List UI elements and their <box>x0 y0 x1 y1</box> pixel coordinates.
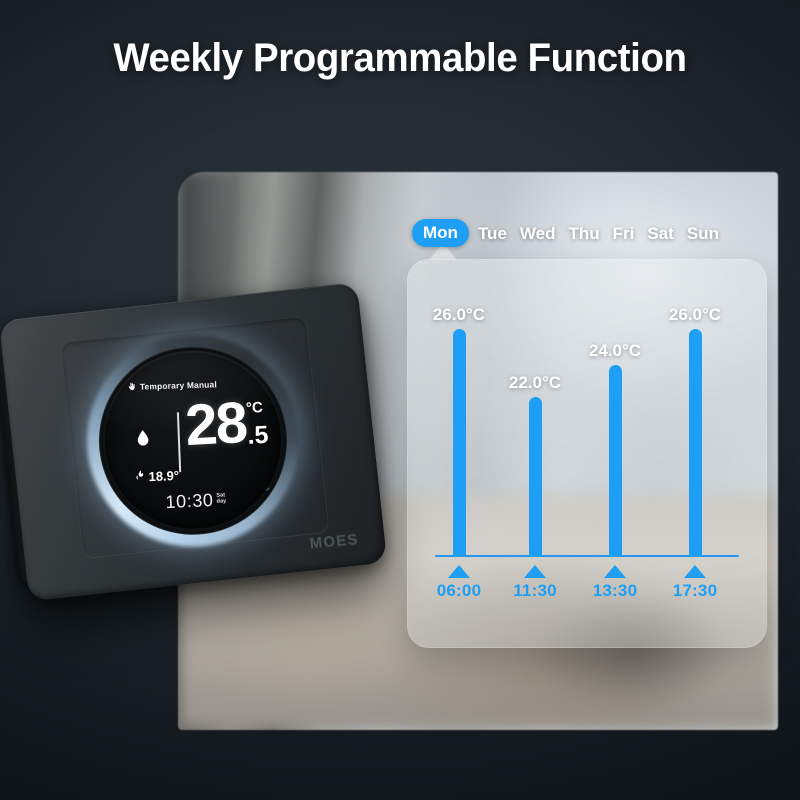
chart-bar[interactable] <box>453 329 466 557</box>
day-tab-sat[interactable]: Sat <box>647 225 673 242</box>
promo-image-canvas: Weekly Programmable Function <box>0 0 800 800</box>
screen-mode-label: Temporary Manual <box>140 379 217 391</box>
day-tab-thu[interactable]: Thu <box>568 225 599 242</box>
bar-value-label: 26.0°C <box>669 306 721 323</box>
axis-time-label[interactable]: 17:30 <box>673 582 717 599</box>
day-tab-mon[interactable]: Mon <box>412 219 469 247</box>
bar-slot: 26.0°C <box>429 293 489 557</box>
clock-time: 10:30 <box>165 490 214 513</box>
axis-slot: 13:30 <box>585 565 645 599</box>
day-tab-bar: MonTueWedThuFriSatSun <box>418 219 719 247</box>
triangle-up-icon <box>448 565 470 578</box>
chart-bar[interactable] <box>689 329 702 557</box>
clock-day: Sat day <box>216 493 226 505</box>
floor-temperature-row: 18.9° <box>134 466 179 486</box>
axis-time-label[interactable]: 06:00 <box>437 582 481 599</box>
bar-slot: 22.0°C <box>505 293 565 557</box>
screen-divider <box>177 412 181 472</box>
day-tab-tue[interactable]: Tue <box>478 225 507 242</box>
triangle-up-icon <box>524 565 546 578</box>
weekly-schedule-card: 26.0°C22.0°C24.0°C26.0°C 06:0011:3013:30… <box>407 259 767 648</box>
thermostat-device: Temporary Manual 28 °C .5 <box>0 281 401 619</box>
bar-value-label: 24.0°C <box>589 342 641 359</box>
axis-time-label[interactable]: 13:30 <box>593 582 637 599</box>
axis-time-label[interactable]: 11:30 <box>513 582 557 599</box>
day-tab-fri[interactable]: Fri <box>613 225 635 242</box>
floor-temperature-value: 18.9° <box>148 467 179 483</box>
triangle-up-icon <box>684 565 706 578</box>
day-tab-sun[interactable]: Sun <box>687 225 719 242</box>
bar-value-label: 22.0°C <box>509 374 561 391</box>
bar-slot: 24.0°C <box>585 293 645 557</box>
triangle-up-icon <box>604 565 626 578</box>
day-tab-wed[interactable]: Wed <box>520 225 556 242</box>
set-temperature-decimal: .5 <box>247 424 269 448</box>
chart-bar[interactable] <box>609 365 622 557</box>
bar-value-label: 26.0°C <box>433 306 485 323</box>
brand-logo: MOES <box>309 531 359 552</box>
hand-touch-icon <box>127 378 137 396</box>
axis-slot: 11:30 <box>505 565 565 599</box>
thermostat-faceplate: Temporary Manual 28 °C .5 <box>0 282 387 601</box>
screen-clock: 10:30 Sat day <box>165 489 227 513</box>
set-temperature-integer: 28 <box>184 398 247 451</box>
page-title: Weekly Programmable Function <box>16 36 784 80</box>
water-drop-icon <box>136 430 150 452</box>
floor-heating-icon <box>134 467 146 485</box>
chart-axis-row: 06:0011:3013:3017:30 <box>435 565 739 625</box>
schedule-bar-chart: 26.0°C22.0°C24.0°C26.0°C <box>435 293 739 557</box>
axis-slot: 17:30 <box>665 565 725 599</box>
clock-day-bottom: day <box>216 498 226 504</box>
chart-bar[interactable] <box>529 397 542 557</box>
bar-slot: 26.0°C <box>665 293 725 557</box>
set-temperature-suffix: °C .5 <box>246 397 269 448</box>
set-temperature-display: 28 °C .5 <box>184 397 269 451</box>
temperature-unit: °C <box>246 400 264 416</box>
axis-slot: 06:00 <box>429 565 489 599</box>
